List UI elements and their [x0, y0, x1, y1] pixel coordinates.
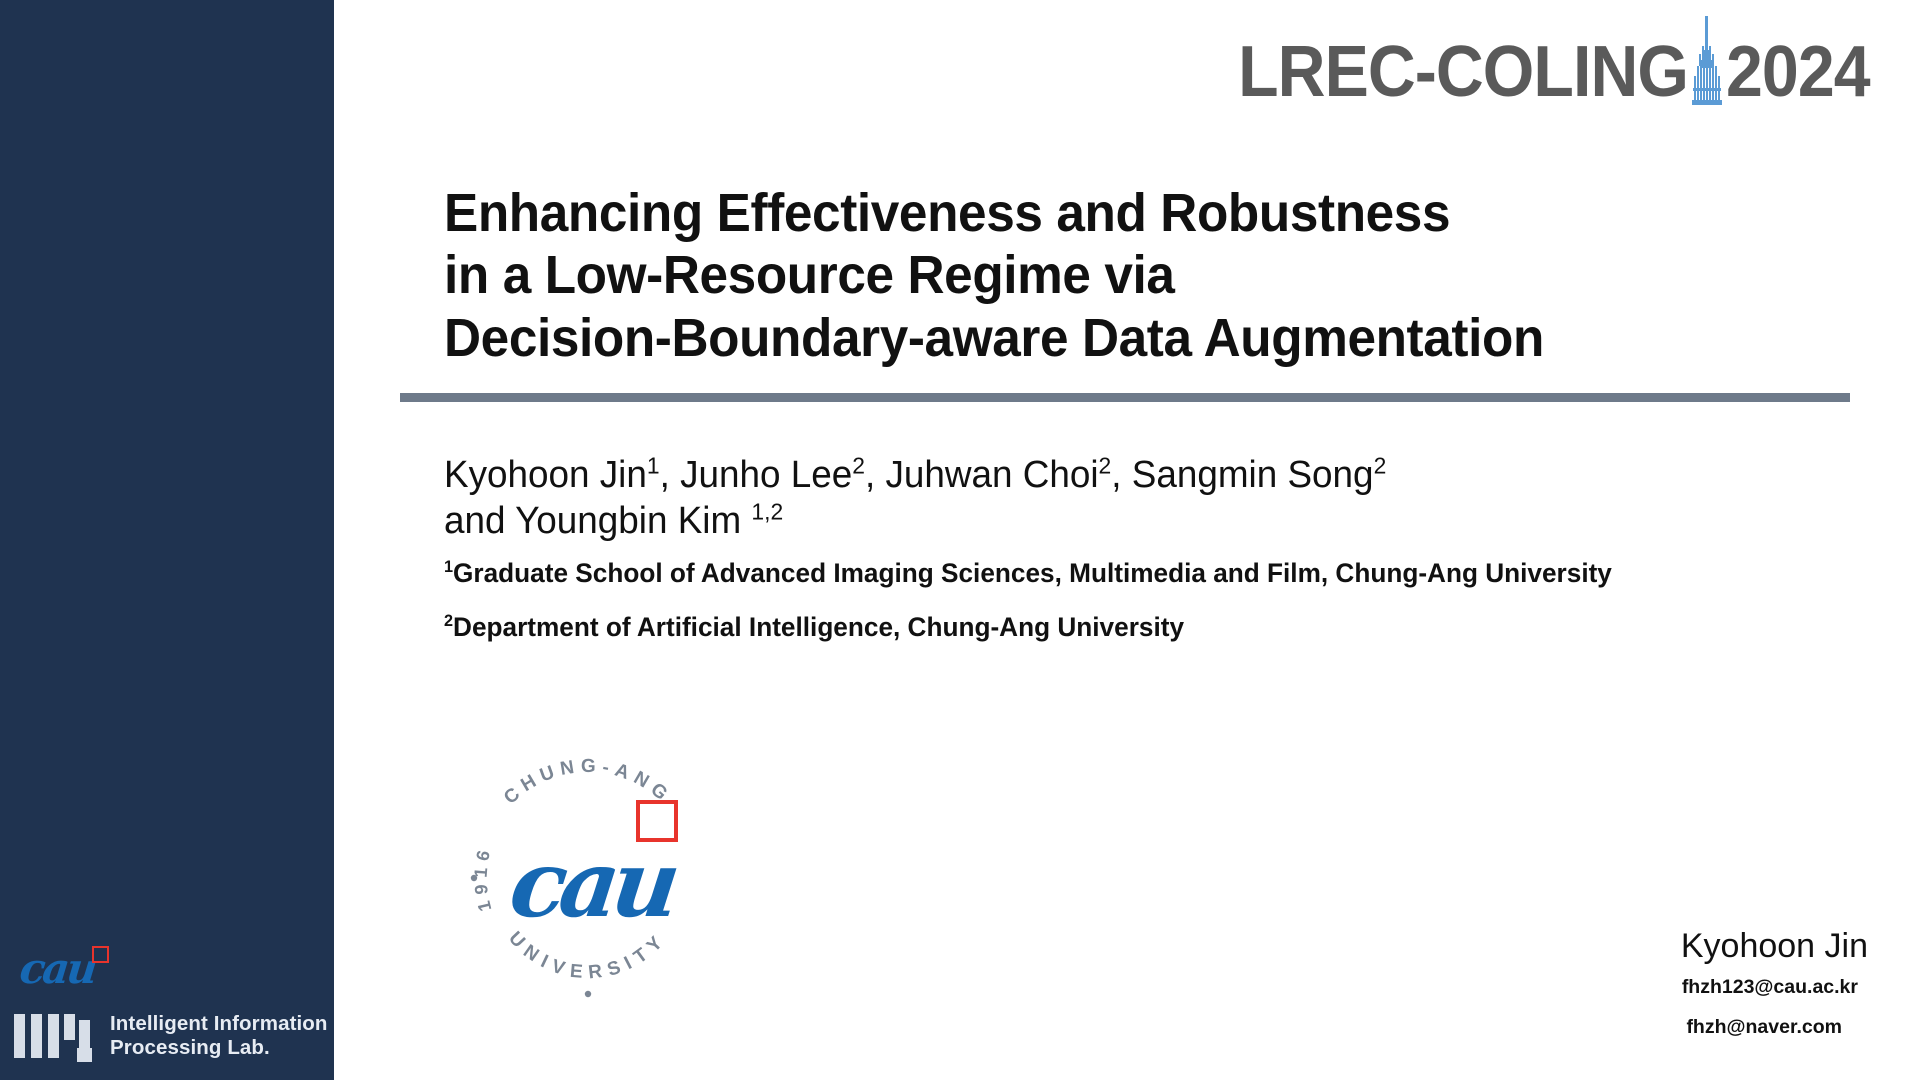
contact-email-primary[interactable]: fhzh123@cau.ac.kr — [1681, 977, 1858, 998]
lab-name-line-2: Processing Lab. — [110, 1036, 328, 1060]
affiliation-1: 1Graduate School of Advanced Imaging Sci… — [444, 558, 1821, 589]
author-name-4: , Sangmin Song — [1111, 454, 1373, 496]
affiliation-2: 2Department of Artificial Intelligence, … — [444, 612, 1821, 643]
title-line-3: Decision-Boundary-aware Data Augmentatio… — [444, 307, 1717, 369]
contact-email-secondary[interactable]: fhzh@naver.com — [1681, 1017, 1842, 1038]
author-name-2: , Junho Lee — [660, 454, 853, 496]
sidebar-cau-script: cau — [18, 948, 97, 990]
author-name-3: , Juhwan Choi — [865, 454, 1099, 496]
skyscraper-icon — [1687, 14, 1727, 106]
emblem-red-square-accent — [636, 800, 678, 842]
author-list: Kyohoon Jin1, Junho Lee2, Juhwan Choi2, … — [444, 452, 1705, 545]
author-line-1: Kyohoon Jin1, Junho Lee2, Juhwan Choi2, … — [444, 452, 1705, 498]
affiliation-1-marker: 1 — [444, 557, 453, 576]
left-sidebar: cau Intelligent Information Processing L… — [0, 0, 334, 1080]
conference-name: LREC-COLING — [1238, 36, 1688, 108]
sidebar-red-square-accent — [92, 946, 109, 963]
author-name-1: Kyohoon Jin — [444, 454, 647, 496]
lab-name-line-1: Intelligent Information — [110, 1012, 328, 1036]
contact-block: Kyohoon Jin fhzh123@cau.ac.kr fhzh@naver… — [1681, 928, 1868, 1038]
title-divider — [400, 393, 1850, 402]
author-affil-ref-5: 1,2 — [751, 499, 783, 525]
author-affil-ref-1: 1 — [647, 452, 660, 478]
conference-year: 2024 — [1726, 36, 1870, 108]
affiliation-1-text: Graduate School of Advanced Imaging Scie… — [453, 558, 1612, 588]
sidebar-lab-logo-row: Intelligent Information Processing Lab. — [14, 1010, 324, 1062]
author-affil-ref-3: 2 — [1099, 452, 1112, 478]
slide-root: cau Intelligent Information Processing L… — [0, 0, 1920, 1080]
author-affil-ref-4: 2 — [1374, 452, 1387, 478]
sidebar-logo-group: cau Intelligent Information Processing L… — [14, 946, 324, 1062]
page-title: Enhancing Effectiveness and Robustness i… — [444, 182, 1717, 369]
lab-name: Intelligent Information Processing Lab. — [110, 1012, 328, 1060]
title-line-2: in a Low-Resource Regime via — [444, 244, 1717, 306]
cau-university-emblem: CHUNG-ANG UNIVERSITY 1916 cau — [452, 742, 724, 1014]
affiliation-2-marker: 2 — [444, 611, 453, 630]
author-affil-ref-2: 2 — [852, 452, 865, 478]
contact-name: Kyohoon Jin — [1681, 928, 1868, 965]
emblem-cau-script: cau — [476, 838, 707, 930]
author-line-2: and Youngbin Kim 1,2 — [444, 498, 1705, 544]
affiliation-2-text: Department of Artificial Intelligence, C… — [453, 612, 1184, 642]
title-line-1: Enhancing Effectiveness and Robustness — [444, 182, 1717, 244]
sidebar-cau-logo: cau — [20, 946, 140, 1004]
conference-logo: LREC-COLING 2024 — [1199, 16, 1882, 108]
author-name-5: and Youngbin Kim — [444, 500, 751, 542]
iipl-bars-logo — [14, 1010, 98, 1062]
